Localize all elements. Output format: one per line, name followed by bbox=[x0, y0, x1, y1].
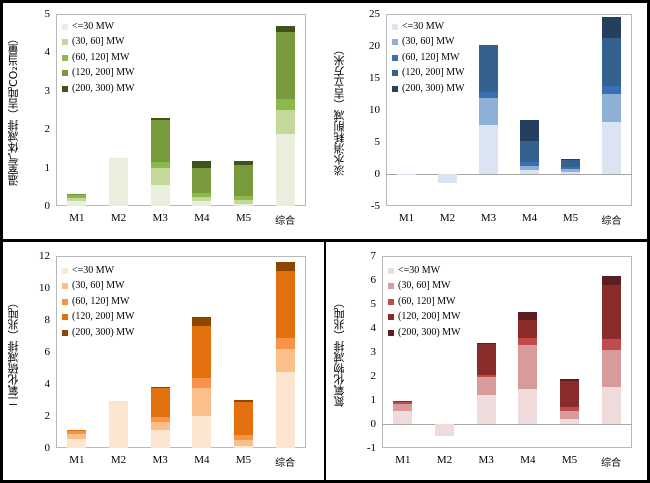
bar-segment bbox=[438, 174, 457, 183]
zero-axis-line bbox=[386, 174, 632, 175]
bar-segment bbox=[234, 200, 253, 204]
bar-segment bbox=[479, 125, 498, 174]
y-tick-label: 15 bbox=[352, 72, 380, 84]
y-tick-label: 2 bbox=[348, 370, 376, 382]
panel-so2: 二氧化硫减排（兆吨）024681012M1M2M3M4M5综合<=30 MW(3… bbox=[0, 242, 324, 483]
bar-segment bbox=[602, 285, 621, 339]
x-tick-label: M5 bbox=[223, 212, 265, 224]
bar-segment bbox=[518, 338, 537, 345]
x-tick-label: M2 bbox=[98, 212, 140, 224]
bar-segment bbox=[67, 434, 86, 440]
bar-segment bbox=[520, 141, 539, 161]
x-tick-label: M1 bbox=[56, 212, 98, 224]
y-axis-label: 淡水消耗削减（吉立方米） bbox=[332, 14, 348, 206]
bar-segment bbox=[560, 407, 579, 411]
bar-segment bbox=[234, 161, 253, 166]
x-tick-label: M4 bbox=[181, 454, 223, 466]
bar-segment bbox=[234, 400, 253, 402]
legend-label: (60, 120] MW bbox=[72, 53, 130, 63]
legend-item[interactable]: (120, 200] MW bbox=[392, 69, 465, 78]
bar-segment bbox=[477, 343, 496, 344]
bar-segment bbox=[151, 430, 170, 448]
bar-segment bbox=[109, 158, 128, 206]
bar-segment bbox=[602, 94, 621, 122]
vertical-divider bbox=[324, 241, 326, 483]
legend-swatch-icon bbox=[392, 70, 398, 76]
y-tick-label: 3 bbox=[22, 85, 50, 97]
zero-axis-line bbox=[382, 424, 632, 425]
bar-segment bbox=[151, 185, 170, 206]
x-tick-label: 综合 bbox=[591, 212, 632, 227]
bar-segment bbox=[479, 92, 498, 98]
bar-segment bbox=[234, 196, 253, 200]
y-tick-label: 10 bbox=[22, 282, 50, 294]
y-axis-label: 二氧化硫减排（兆吨） bbox=[6, 256, 22, 448]
y-tick-label: 7 bbox=[348, 250, 376, 262]
x-tick-label: M5 bbox=[550, 212, 591, 224]
y-tick-label: 6 bbox=[348, 274, 376, 286]
x-tick-label: M3 bbox=[139, 454, 181, 466]
y-tick-label: 5 bbox=[22, 8, 50, 20]
x-tick-label: M4 bbox=[181, 212, 223, 224]
legend-item[interactable]: (120, 200] MW bbox=[62, 313, 135, 322]
legend-swatch-icon bbox=[388, 314, 394, 320]
bar-segment bbox=[192, 161, 211, 168]
legend-item[interactable]: (30, 60] MW bbox=[62, 38, 135, 47]
bar-segment bbox=[276, 349, 295, 372]
legend-item[interactable]: (200, 300) MW bbox=[392, 84, 465, 93]
legend-swatch-icon bbox=[388, 299, 394, 305]
legend-label: (60, 120] MW bbox=[72, 297, 130, 307]
legend: <=30 MW(30, 60] MW(60, 120] MW(120, 200]… bbox=[62, 22, 135, 100]
bar-segment bbox=[561, 160, 580, 167]
y-tick-label: 5 bbox=[352, 136, 380, 148]
bar-segment bbox=[151, 120, 170, 162]
bar-segment bbox=[151, 162, 170, 168]
bar-segment bbox=[276, 26, 295, 32]
legend-swatch-icon bbox=[62, 86, 68, 92]
bar-segment bbox=[518, 345, 537, 389]
legend-swatch-icon bbox=[388, 330, 394, 336]
legend-label: <=30 MW bbox=[72, 266, 114, 276]
x-tick-label: M5 bbox=[223, 454, 265, 466]
y-tick-label: 2 bbox=[22, 123, 50, 135]
legend-swatch-icon bbox=[392, 39, 398, 45]
bar-segment bbox=[276, 262, 295, 272]
bar-segment bbox=[192, 201, 211, 206]
bar-segment bbox=[397, 174, 416, 175]
bar-segment bbox=[276, 372, 295, 448]
bar-segment bbox=[393, 401, 412, 402]
x-tick-label: M4 bbox=[507, 454, 549, 466]
legend-label: (200, 300) MW bbox=[72, 84, 135, 94]
bar-segment bbox=[602, 350, 621, 387]
bar-segment bbox=[151, 387, 170, 388]
legend-item[interactable]: (30, 60] MW bbox=[392, 38, 465, 47]
bar-segment bbox=[192, 326, 211, 378]
legend-label: (120, 200] MW bbox=[72, 312, 135, 322]
bar-segment bbox=[479, 45, 498, 92]
legend-item[interactable]: <=30 MW bbox=[388, 266, 461, 275]
bar-segment bbox=[67, 194, 86, 195]
bar-segment bbox=[560, 379, 579, 381]
chart-figure: 温室气体减排（吉吨CO₂当量）012345M1M2M3M4M5综合<=30 MW… bbox=[0, 0, 650, 483]
legend-item[interactable]: <=30 MW bbox=[392, 22, 465, 31]
bar-segment bbox=[151, 168, 170, 185]
legend-label: (30, 60] MW bbox=[72, 281, 125, 291]
y-tick-label: 12 bbox=[22, 250, 50, 262]
legend-swatch-icon bbox=[62, 24, 68, 30]
bar-segment bbox=[602, 122, 621, 174]
bar-segment bbox=[151, 417, 170, 422]
bar-segment bbox=[602, 276, 621, 285]
legend-item[interactable]: <=30 MW bbox=[62, 22, 135, 31]
x-tick-label: M3 bbox=[468, 212, 509, 224]
legend-label: (200, 300) MW bbox=[402, 84, 465, 94]
bar-segment bbox=[520, 170, 539, 174]
panel-freshwater: 淡水消耗削减（吉立方米）-50510152025M1M2M3M4M5综合<=30… bbox=[326, 0, 650, 239]
legend-swatch-icon bbox=[62, 268, 68, 274]
bar-segment bbox=[234, 440, 253, 446]
legend: <=30 MW(30, 60] MW(60, 120] MW(120, 200]… bbox=[388, 266, 461, 344]
legend-label: <=30 MW bbox=[402, 22, 444, 32]
y-tick-label: 6 bbox=[22, 346, 50, 358]
legend-label: (200, 300) MW bbox=[72, 328, 135, 338]
y-tick-label: 4 bbox=[22, 46, 50, 58]
bar-segment bbox=[435, 424, 454, 436]
bar-segment bbox=[518, 389, 537, 424]
bar-segment bbox=[520, 120, 539, 141]
bar-segment bbox=[234, 204, 253, 206]
bar-segment bbox=[67, 201, 86, 206]
bar-segment bbox=[276, 32, 295, 99]
bar-segment bbox=[393, 404, 412, 411]
bar-segment bbox=[518, 320, 537, 338]
y-tick-label: -5 bbox=[352, 200, 380, 212]
bar-segment bbox=[192, 388, 211, 416]
bar-segment bbox=[560, 411, 579, 419]
y-tick-label: 20 bbox=[352, 40, 380, 52]
bar-segment bbox=[560, 381, 579, 407]
legend-swatch-icon bbox=[388, 283, 394, 289]
bar-segment bbox=[602, 387, 621, 424]
legend-item[interactable]: (120, 200] MW bbox=[62, 69, 135, 78]
legend-label: (30, 60] MW bbox=[72, 37, 125, 47]
x-tick-label: M3 bbox=[465, 454, 507, 466]
bar-segment bbox=[561, 167, 580, 169]
bar-segment bbox=[234, 435, 253, 440]
bar-segment bbox=[67, 198, 86, 202]
bar-segment bbox=[276, 271, 295, 337]
y-axis-label: 氮氧化物减排（兆吨） bbox=[332, 256, 348, 448]
y-tick-label: 10 bbox=[352, 104, 380, 116]
legend-label: (30, 60] MW bbox=[402, 37, 455, 47]
legend-item[interactable]: (200, 300) MW bbox=[388, 328, 461, 337]
bar-segment bbox=[192, 378, 211, 388]
bar-segment bbox=[67, 430, 86, 431]
bar-segment bbox=[602, 17, 621, 38]
panel-nox: 氮氧化物减排（兆吨）-101234567M1M2M3M4M5综合<=30 MW(… bbox=[326, 242, 650, 483]
bar-segment bbox=[518, 312, 537, 320]
legend: <=30 MW(30, 60] MW(60, 120] MW(120, 200]… bbox=[62, 266, 135, 344]
legend: <=30 MW(30, 60] MW(60, 120] MW(120, 200]… bbox=[392, 22, 465, 100]
x-tick-label: M2 bbox=[98, 454, 140, 466]
bar-segment bbox=[477, 377, 496, 394]
y-tick-label: 2 bbox=[22, 410, 50, 422]
bar-segment bbox=[234, 165, 253, 196]
bar-segment bbox=[561, 159, 580, 160]
bar-segment bbox=[234, 446, 253, 448]
bar-segment bbox=[234, 402, 253, 435]
bar-segment bbox=[602, 339, 621, 350]
x-tick-label: 综合 bbox=[590, 454, 632, 469]
legend-swatch-icon bbox=[392, 86, 398, 92]
legend-item[interactable]: <=30 MW bbox=[62, 266, 135, 275]
legend-label: (60, 120] MW bbox=[402, 53, 460, 63]
legend-label: <=30 MW bbox=[72, 22, 114, 32]
panel-ghg: 温室气体减排（吉吨CO₂当量）012345M1M2M3M4M5综合<=30 MW… bbox=[0, 0, 324, 239]
y-tick-label: 3 bbox=[348, 346, 376, 358]
legend-label: (120, 200] MW bbox=[402, 68, 465, 78]
y-tick-label: 4 bbox=[348, 322, 376, 334]
bar-segment bbox=[479, 98, 498, 125]
bar-segment bbox=[67, 439, 86, 448]
y-tick-label: 8 bbox=[22, 314, 50, 326]
legend-label: (200, 300) MW bbox=[398, 328, 461, 338]
legend-item[interactable]: (120, 200] MW bbox=[388, 313, 461, 322]
bar-segment bbox=[151, 388, 170, 417]
y-tick-label: 5 bbox=[348, 298, 376, 310]
bar-segment bbox=[520, 166, 539, 170]
x-tick-label: M3 bbox=[139, 212, 181, 224]
y-tick-label: 0 bbox=[352, 168, 380, 180]
bar-segment bbox=[276, 134, 295, 206]
bar-segment bbox=[560, 419, 579, 424]
legend-swatch-icon bbox=[62, 55, 68, 61]
legend-item[interactable]: (30, 60] MW bbox=[388, 282, 461, 291]
x-tick-label: 综合 bbox=[264, 454, 306, 469]
legend-swatch-icon bbox=[392, 55, 398, 61]
bar-segment bbox=[561, 169, 580, 172]
legend-item[interactable]: (200, 300) MW bbox=[62, 84, 135, 93]
bar-segment bbox=[520, 162, 539, 166]
bar-segment bbox=[477, 395, 496, 424]
bar-segment bbox=[602, 86, 621, 94]
y-tick-label: 0 bbox=[22, 200, 50, 212]
x-tick-label: M1 bbox=[56, 454, 98, 466]
y-tick-label: 4 bbox=[22, 378, 50, 390]
legend-swatch-icon bbox=[62, 299, 68, 305]
bar-segment bbox=[602, 38, 621, 86]
legend-swatch-icon bbox=[62, 314, 68, 320]
y-axis-label: 温室气体减排（吉吨CO₂当量） bbox=[6, 14, 22, 206]
legend-label: (120, 200] MW bbox=[398, 312, 461, 322]
bar-segment bbox=[192, 317, 211, 327]
bar-segment bbox=[477, 344, 496, 375]
legend-label: (120, 200] MW bbox=[72, 68, 135, 78]
x-tick-label: M2 bbox=[424, 454, 466, 466]
x-tick-label: M2 bbox=[427, 212, 468, 224]
x-tick-label: M1 bbox=[386, 212, 427, 224]
bar-segment bbox=[477, 375, 496, 378]
bar-segment bbox=[276, 338, 295, 349]
legend-swatch-icon bbox=[62, 283, 68, 289]
bar-segment bbox=[109, 401, 128, 448]
x-tick-label: M4 bbox=[509, 212, 550, 224]
legend-swatch-icon bbox=[62, 70, 68, 76]
bar-segment bbox=[67, 195, 86, 198]
y-tick-label: 0 bbox=[348, 418, 376, 430]
bar-segment bbox=[151, 118, 170, 119]
x-tick-label: M1 bbox=[382, 454, 424, 466]
bar-segment bbox=[561, 172, 580, 174]
y-tick-label: 25 bbox=[352, 8, 380, 20]
legend-swatch-icon bbox=[392, 24, 398, 30]
y-tick-label: 1 bbox=[348, 394, 376, 406]
bar-segment bbox=[393, 411, 412, 424]
bar-segment bbox=[393, 402, 412, 403]
legend-item[interactable]: (60, 120] MW bbox=[62, 53, 135, 62]
y-tick-label: 1 bbox=[22, 162, 50, 174]
legend-swatch-icon bbox=[62, 39, 68, 45]
bar-segment bbox=[67, 431, 86, 433]
legend-item[interactable]: (60, 120] MW bbox=[62, 297, 135, 306]
legend-swatch-icon bbox=[388, 268, 394, 274]
legend-label: (60, 120] MW bbox=[398, 297, 456, 307]
legend-label: (30, 60] MW bbox=[398, 281, 451, 291]
bar-segment bbox=[192, 197, 211, 202]
legend-label: <=30 MW bbox=[398, 266, 440, 276]
y-tick-label: -1 bbox=[348, 442, 376, 454]
x-tick-label: M5 bbox=[549, 454, 591, 466]
bar-segment bbox=[151, 422, 170, 431]
legend-item[interactable]: (60, 120] MW bbox=[388, 297, 461, 306]
bar-segment bbox=[192, 416, 211, 448]
bar-segment bbox=[192, 193, 211, 197]
x-tick-label: 综合 bbox=[264, 212, 306, 227]
bar-segment bbox=[276, 99, 295, 109]
legend-item[interactable]: (200, 300) MW bbox=[62, 328, 135, 337]
legend-item[interactable]: (60, 120] MW bbox=[392, 53, 465, 62]
bar-segment bbox=[192, 168, 211, 193]
legend-swatch-icon bbox=[62, 330, 68, 336]
y-tick-label: 0 bbox=[22, 442, 50, 454]
legend-item[interactable]: (30, 60] MW bbox=[62, 282, 135, 291]
bar-segment bbox=[276, 110, 295, 134]
